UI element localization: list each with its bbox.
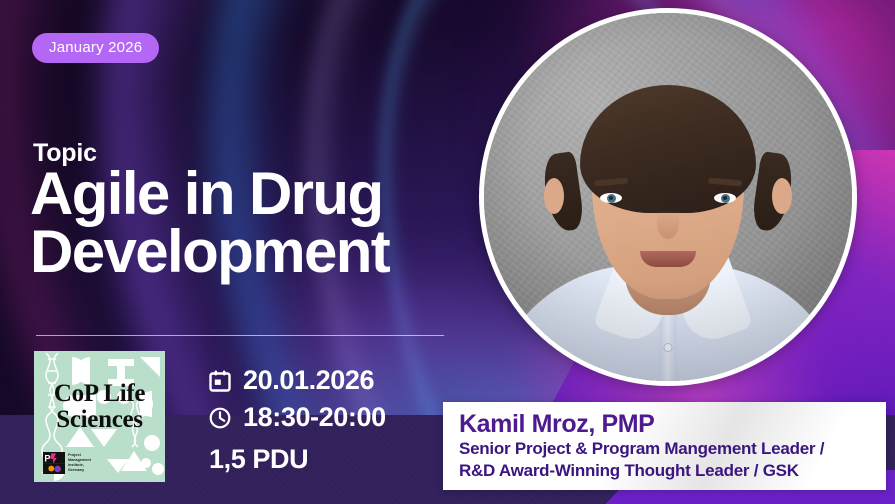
month-badge: January 2026 [32,33,159,63]
svg-text:P: P [44,454,50,464]
portrait-shirt-button [664,343,673,352]
pmi-text-line-4: Germany [68,468,91,473]
speaker-role-line-1: Senior Project & Program Mangement Leade… [459,439,886,460]
event-time-row: 18:30-20:00 [208,399,386,436]
pmi-mark-icon: P I [43,452,65,474]
portrait-eye-right [714,193,736,203]
divider [36,335,444,336]
portrait-ear-right [772,178,792,214]
logo-title: CoP Life Sciences [34,381,165,432]
portrait-eye-left [600,193,622,203]
speaker-role-line-2: R&D Award-Winning Thought Leader / GSK [459,461,886,482]
logo-title-line-2: Sciences [34,407,165,433]
title-line-1: Agile in Drug [30,165,480,223]
cop-life-sciences-logo: CoP Life Sciences P I Project Management [34,351,165,482]
title-line-2: Development [30,223,480,281]
event-pdu: 1,5 PDU [209,444,386,475]
event-details: 20.01.2026 18:30-20:00 1,5 PDU [208,362,386,475]
pmi-germany-logo: P I Project Management Institute, German… [43,452,91,474]
speaker-name: Kamil Mroz, PMP [459,410,886,438]
speaker-portrait [479,8,857,386]
event-date: 20.01.2026 [243,365,374,396]
speaker-nameplate: Kamil Mroz, PMP Senior Project & Program… [443,402,886,490]
calendar-icon [208,369,232,393]
logo-title-line-1: CoP Life [34,381,165,407]
page-title: Agile in Drug Development [30,165,480,281]
event-date-row: 20.01.2026 [208,362,386,399]
event-time: 18:30-20:00 [243,402,386,433]
portrait-nose [657,209,679,239]
event-announcement-poster: January 2026 Topic Agile in Drug Develop… [0,0,895,504]
pmi-text: Project Management Institute, Germany [68,453,91,472]
portrait-ear-left [544,178,564,214]
portrait-mouth [640,251,696,267]
clock-icon [208,406,232,430]
